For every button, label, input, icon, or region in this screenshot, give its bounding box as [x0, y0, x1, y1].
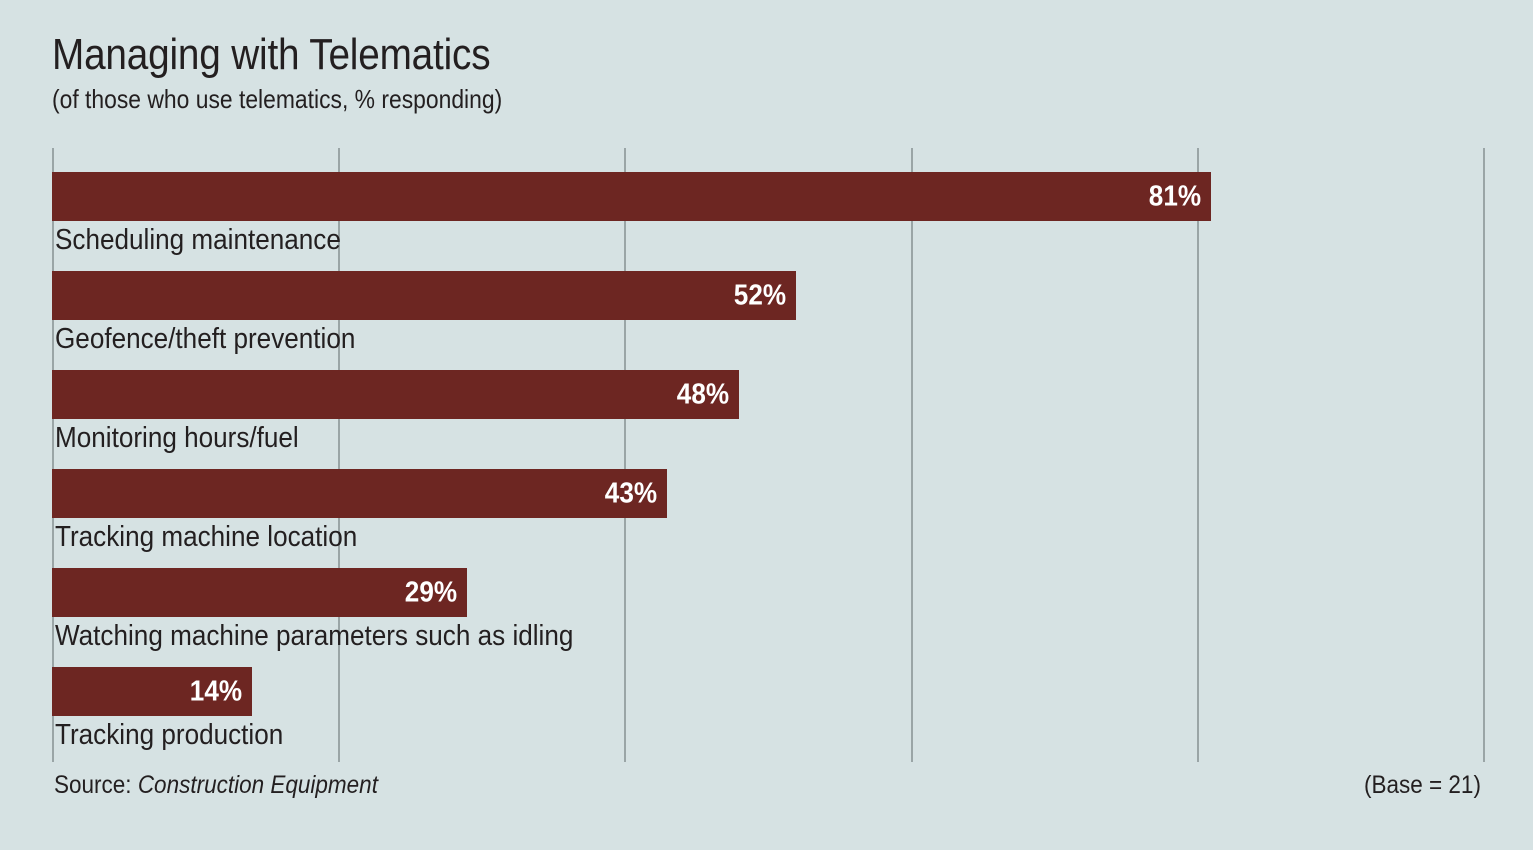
bar-value-label: 14% [190, 677, 242, 706]
bar: 29% [52, 568, 467, 617]
bar-value-label: 52% [734, 281, 786, 310]
chart-footer: Source: Construction Equipment (Base = 2… [0, 770, 1533, 820]
chart-subtitle: (of those who use telematics, % respondi… [52, 84, 1284, 114]
bar-category-label: Tracking production [55, 718, 283, 752]
source-prefix: Source: [54, 771, 132, 799]
bar: 43% [52, 469, 667, 518]
source-note: Source: Construction Equipment [54, 770, 378, 800]
bar-group: 48%Monitoring hours/fuel [52, 370, 1512, 469]
source-publication: Construction Equipment [138, 771, 378, 799]
bar: 81% [52, 172, 1211, 221]
bar-value-label: 81% [1149, 182, 1201, 211]
bar-group: 43%Tracking machine location [52, 469, 1512, 568]
bar-category-label: Watching machine parameters such as idli… [55, 619, 573, 653]
bar-group: 29%Watching machine parameters such as i… [52, 568, 1512, 667]
chart-title: Managing with Telematics [52, 30, 1284, 80]
bar-group: 14%Tracking production [52, 667, 1512, 766]
bar-value-label: 48% [677, 380, 729, 409]
bar-category-label: Tracking machine location [55, 520, 357, 554]
base-note: (Base = 21) [1364, 770, 1481, 800]
bar-group: 52%Geofence/theft prevention [52, 271, 1512, 370]
bar-category-label: Scheduling maintenance [55, 223, 341, 257]
bar: 48% [52, 370, 739, 419]
bar-category-label: Monitoring hours/fuel [55, 421, 299, 455]
chart-header: Managing with Telematics (of those who u… [52, 30, 1452, 114]
bar-group: 81%Scheduling maintenance [52, 172, 1512, 271]
bar-value-label: 43% [605, 479, 657, 508]
bars-layer: 81%Scheduling maintenance52%Geofence/the… [0, 148, 1533, 762]
bar-value-label: 29% [405, 578, 457, 607]
bar: 14% [52, 667, 252, 716]
bar-category-label: Geofence/theft prevention [55, 322, 355, 356]
plot-area: 81%Scheduling maintenance52%Geofence/the… [0, 148, 1533, 762]
telematics-bar-chart: Managing with Telematics (of those who u… [0, 0, 1533, 850]
bar: 52% [52, 271, 796, 320]
